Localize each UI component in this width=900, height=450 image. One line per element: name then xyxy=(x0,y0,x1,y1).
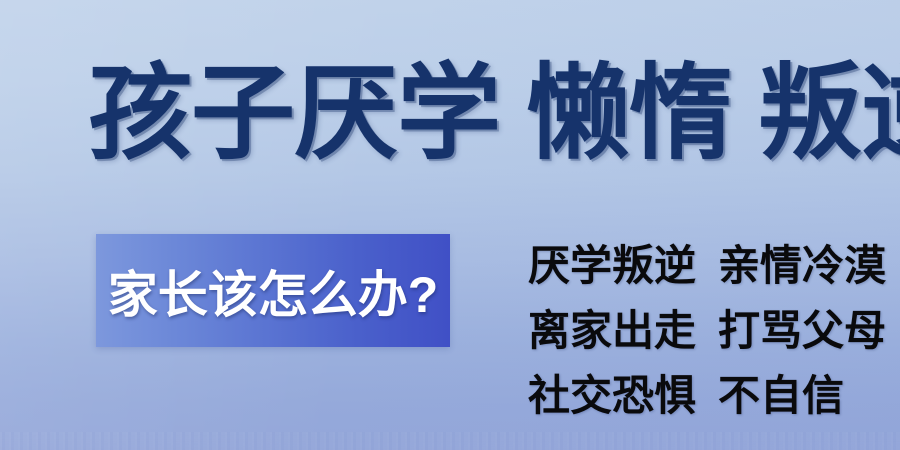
symptom-row: 厌学叛逆 亲情冷漠 xyxy=(528,232,848,297)
symptom-item: 亲情冷漠 xyxy=(718,232,886,293)
symptom-row: 离家出走 打骂父母 xyxy=(528,297,848,362)
promo-banner: 孩子厌学 懒惰 叛逆 家长该怎么办? 厌学叛逆 亲情冷漠 离家出走 打骂父母 社… xyxy=(0,0,900,450)
symptom-item: 打骂父母 xyxy=(718,297,886,358)
headline-segment-2: 懒惰 xyxy=(526,61,732,167)
symptom-list: 厌学叛逆 亲情冷漠 离家出走 打骂父母 社交恐惧 不自信 xyxy=(528,232,848,427)
bottom-texture-strip xyxy=(0,432,900,450)
headline-segment-1: 孩子厌学 xyxy=(88,61,500,167)
symptom-item: 厌学叛逆 xyxy=(528,232,696,293)
cta-badge-label: 家长该怎么办? xyxy=(108,255,439,327)
symptom-row: 社交恐惧 不自信 xyxy=(528,362,848,427)
cta-badge[interactable]: 家长该怎么办? xyxy=(96,234,450,347)
symptom-item: 不自信 xyxy=(718,362,844,423)
headline: 孩子厌学 懒惰 叛逆 xyxy=(88,52,848,177)
headline-segment-3: 叛逆 xyxy=(758,61,900,167)
symptom-item: 社交恐惧 xyxy=(528,362,696,423)
symptom-item: 离家出走 xyxy=(528,297,696,358)
